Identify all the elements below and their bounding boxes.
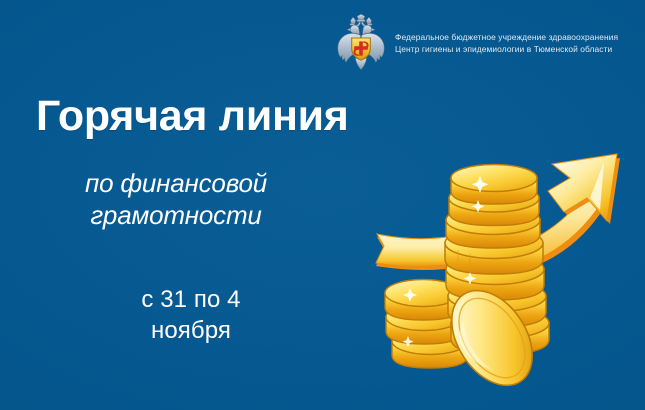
poster-canvas: Федеральное бюджетное учреждение здравоо… — [0, 0, 645, 410]
organization-line-2: Центр гигиены и эпидемиологии в Тюменско… — [395, 43, 618, 55]
poster-dates: с 31 по 4 ноября — [60, 284, 322, 346]
organization-header: Федеральное бюджетное учреждение здравоо… — [333, 12, 633, 74]
dates-line-2: ноября — [60, 315, 322, 346]
poster-subtitle: по финансовой грамотности — [40, 168, 312, 231]
rospotrebnadzor-emblem-icon — [333, 14, 389, 72]
poster-title: Горячая линия — [36, 92, 349, 141]
subtitle-line-1: по финансовой — [40, 168, 312, 200]
dates-line-1: с 31 по 4 — [60, 284, 322, 315]
organization-line-1: Федеральное бюджетное учреждение здравоо… — [395, 31, 618, 43]
organization-name: Федеральное бюджетное учреждение здравоо… — [395, 31, 618, 55]
subtitle-line-2: грамотности — [40, 200, 312, 232]
growing-coin-stacks-with-rising-arrow-illustration — [352, 138, 644, 396]
